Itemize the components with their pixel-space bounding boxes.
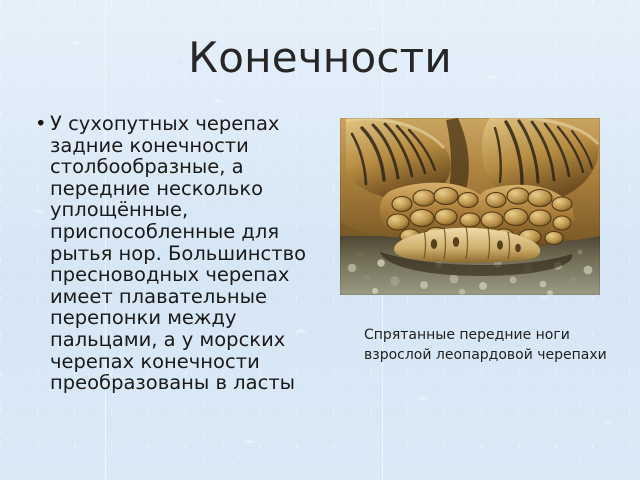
bullet-dot-icon: • — [35, 113, 55, 135]
bullet-list-item: • У сухопутных черепах задние конечности… — [30, 113, 330, 394]
figure-caption: Спрятанные передние ноги взрослой леопар… — [364, 325, 614, 365]
slide-title: Конечности — [0, 33, 640, 83]
leopard-tortoise-front-legs-photo — [340, 118, 600, 295]
slide-body: • У сухопутных черепах задние конечности… — [30, 113, 330, 394]
bullet-item-text: У сухопутных черепах задние конечности с… — [50, 112, 306, 394]
presentation-slide: Конечности • У сухопутных черепах задние… — [0, 0, 640, 480]
tortoise-photo-graphic — [340, 118, 600, 295]
